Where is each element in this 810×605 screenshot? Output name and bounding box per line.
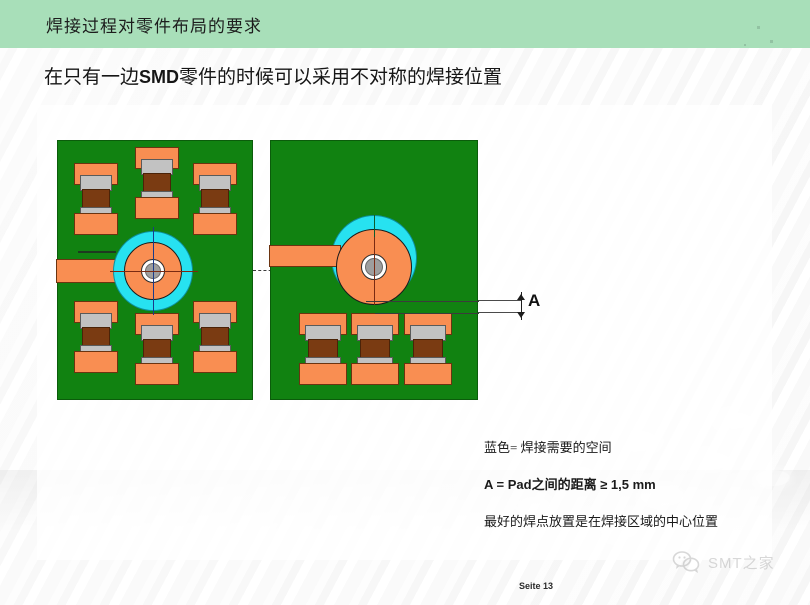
watermark: SMT之家 bbox=[672, 550, 775, 574]
page-title: 焊接过程对零件布局的要求 bbox=[46, 12, 262, 37]
slide-subtitle: 在只有一边SMD零件的时候可以采用不对称的焊接位置 bbox=[44, 62, 502, 89]
subtitle-part-after: 零件的时候可以采用不对称的焊接位置 bbox=[179, 67, 502, 88]
smd-component bbox=[193, 301, 237, 373]
centerline-horizontal bbox=[110, 271, 198, 272]
subtitle-part-before: 在只有一边 bbox=[44, 67, 139, 88]
smd-component bbox=[135, 147, 179, 219]
legend-line-blue-space: 蓝色= 焊接需要的空间 bbox=[484, 437, 774, 456]
smd-component bbox=[74, 301, 118, 373]
watermark-text: SMT之家 bbox=[708, 552, 775, 573]
pcb-board-symmetric bbox=[57, 140, 253, 400]
legend-line-best-placement: 最好的焊点放置是在焊接区域的中心位置 bbox=[484, 511, 774, 530]
legend: 蓝色= 焊接需要的空间 A = Pad之间的距离 ≥ 1,5 mm 最好的焊点放… bbox=[484, 437, 774, 548]
smd-component bbox=[193, 163, 237, 235]
dimension-extension-line bbox=[366, 301, 479, 302]
wechat-icon bbox=[672, 550, 702, 574]
pcb-board-asymmetric bbox=[270, 140, 478, 400]
legend-line-pad-distance: A = Pad之间的距离 ≥ 1,5 mm bbox=[484, 474, 774, 493]
smd-component bbox=[135, 313, 179, 385]
page-number: Seite 13 bbox=[519, 581, 553, 591]
smd-component bbox=[404, 313, 452, 385]
centerline-pad-vertical bbox=[374, 237, 375, 305]
smd-component bbox=[299, 313, 347, 385]
smd-component bbox=[74, 163, 118, 235]
header-speck bbox=[744, 44, 746, 46]
dimension-label-a: A bbox=[528, 291, 540, 311]
subtitle-emphasis: SMD bbox=[139, 67, 179, 87]
dimension-extension-line bbox=[375, 313, 479, 314]
copper-trace bbox=[269, 245, 341, 267]
header-speck bbox=[757, 26, 760, 29]
header-speck bbox=[770, 40, 773, 43]
smd-component bbox=[351, 313, 399, 385]
silkscreen-mark bbox=[78, 251, 116, 253]
